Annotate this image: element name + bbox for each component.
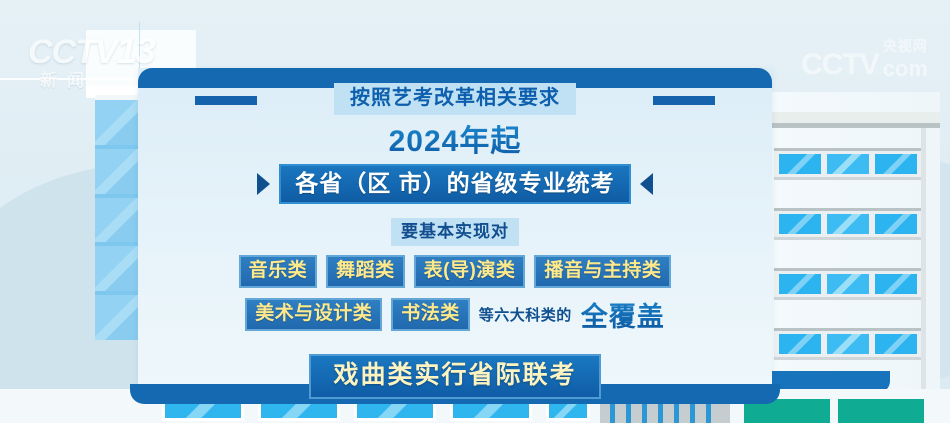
headline-band: 按照艺考改革相关要求 (334, 83, 576, 115)
category-tag: 表(导)演类 (414, 255, 526, 288)
bottom-green-panel-2 (838, 399, 924, 423)
broadcast-frame: CCTV13 新闻 CCTV 央视网 com 按照艺考改革相关要求 2024年起… (0, 0, 950, 423)
category-tag: 舞蹈类 (326, 255, 405, 288)
arrow-left-pointing-icon (640, 173, 653, 195)
category-tag: 音乐类 (239, 255, 318, 288)
tail-small-text: 等六大科类的 (479, 304, 572, 325)
category-tag: 美术与设计类 (245, 298, 382, 331)
right-building-roof (745, 112, 940, 128)
category-tags-row-2: 美术与设计类 书法类 等六大科类的 全覆盖 (195, 295, 715, 334)
main-banner-row: 各省（区 市）的省级专业统考 (257, 164, 652, 204)
category-tag: 书法类 (391, 298, 470, 331)
mid-label: 要基本实现对 (391, 218, 519, 246)
category-tags-row-1: 音乐类 舞蹈类 表(导)演类 播音与主持类 (205, 255, 705, 288)
right-window-row-4 (774, 328, 922, 360)
right-building-column (921, 128, 926, 423)
tail-big-text: 全覆盖 (581, 295, 665, 334)
headline-rule-left (195, 96, 257, 105)
right-window-row-2 (774, 208, 922, 240)
main-banner: 各省（区 市）的省级专业统考 (279, 164, 630, 204)
headline-band-row: 按照艺考改革相关要求 (195, 84, 715, 114)
category-tag: 播音与主持类 (534, 255, 671, 288)
footer-banner: 戏曲类实行省际联考 (309, 354, 600, 399)
arrow-right-pointing-icon (257, 173, 270, 195)
right-window-row-1 (774, 148, 922, 180)
headline-rule-right (653, 96, 715, 105)
year-line: 2024年起 (389, 116, 522, 160)
right-window-row-3 (774, 268, 922, 300)
info-panel-content: 按照艺考改革相关要求 2024年起 各省（区 市）的省级专业统考 要基本实现对 … (138, 88, 772, 384)
